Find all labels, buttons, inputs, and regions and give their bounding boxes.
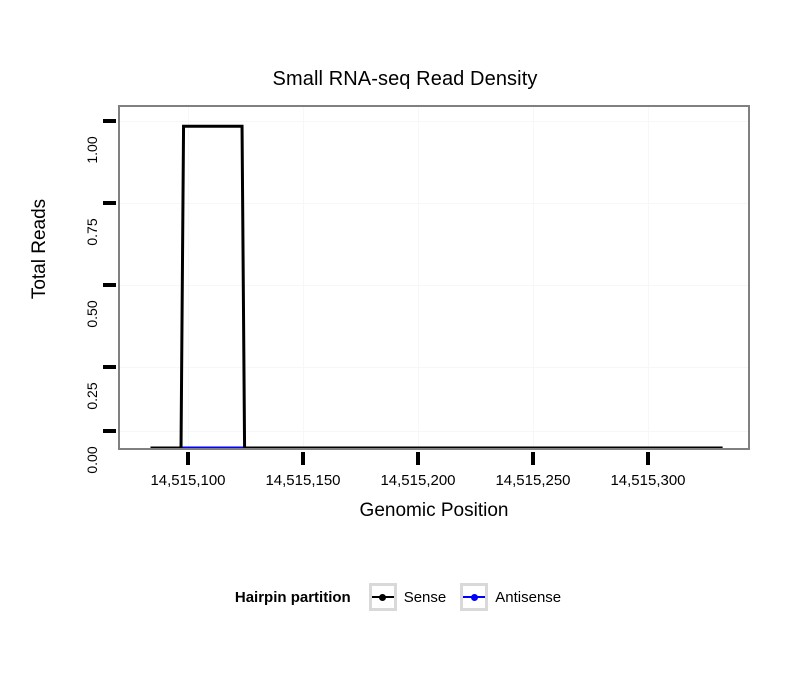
series-layer <box>120 107 748 448</box>
y-axis-title: Total Reads <box>29 179 51 319</box>
x-tick-label: 14,515,300 <box>588 472 708 489</box>
x-tick-label: 14,515,200 <box>358 472 478 489</box>
legend-title: Hairpin partition <box>235 589 351 606</box>
y-tick-label: 0.75 <box>84 202 100 262</box>
plot-panel <box>118 105 750 450</box>
legend-point-icon <box>471 594 478 601</box>
x-tick-label: 14,515,150 <box>243 472 363 489</box>
legend-entry-sense[interactable]: Sense <box>369 583 447 611</box>
legend-key-antisense <box>460 583 488 611</box>
series-line-sense <box>151 126 723 448</box>
legend: Hairpin partition Sense Antisense <box>0 583 810 611</box>
x-tick-label: 14,515,250 <box>473 472 593 489</box>
x-axis-title: Genomic Position <box>118 500 750 522</box>
y-tick-mark <box>103 429 116 433</box>
y-tick-mark <box>103 119 116 123</box>
legend-entry-antisense[interactable]: Antisense <box>460 583 561 611</box>
y-tick-mark <box>103 201 116 205</box>
y-tick-label: 0.00 <box>84 430 100 490</box>
legend-key-sense <box>369 583 397 611</box>
chart-figure: Small RNA-seq Read Density Total Reads G… <box>0 0 810 690</box>
x-tick-mark <box>186 452 190 465</box>
x-tick-mark <box>416 452 420 465</box>
y-tick-label: 0.25 <box>84 366 100 426</box>
y-tick-mark <box>103 283 116 287</box>
x-tick-mark <box>531 452 535 465</box>
x-tick-mark <box>301 452 305 465</box>
y-tick-label: 0.50 <box>84 284 100 344</box>
x-tick-mark <box>646 452 650 465</box>
legend-point-icon <box>379 594 386 601</box>
legend-label-sense: Sense <box>404 589 447 606</box>
x-tick-label: 14,515,100 <box>128 472 248 489</box>
y-tick-mark <box>103 365 116 369</box>
chart-title: Small RNA-seq Read Density <box>0 68 810 91</box>
y-tick-label: 1.00 <box>84 120 100 180</box>
legend-label-antisense: Antisense <box>495 589 561 606</box>
